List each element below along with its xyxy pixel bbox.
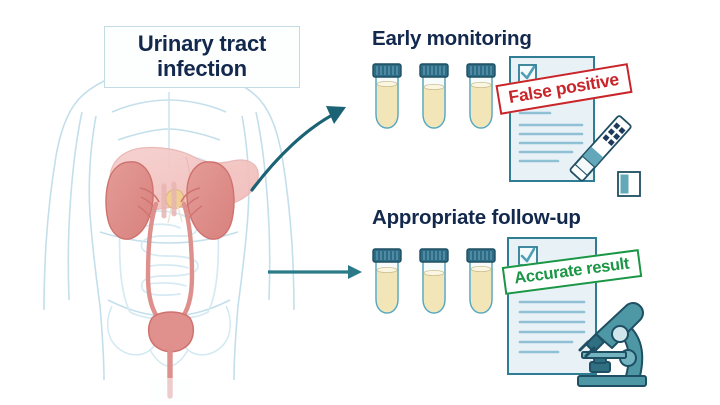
section-heading-appropriate-follow-up: Appropriate follow-up [372, 206, 581, 230]
page-title-line2: infection [157, 56, 247, 81]
urine-dipstick-icon [560, 112, 644, 198]
urinary-bladder [149, 312, 194, 352]
urine-sample-tube [370, 243, 404, 315]
fade-mask [150, 378, 190, 405]
right-ureter [148, 204, 160, 320]
urine-sample-tube [417, 58, 451, 130]
page-title: Urinary tract infection [104, 26, 300, 88]
urine-sample-tube [370, 58, 404, 130]
page-title-line1: Urinary tract [138, 31, 266, 56]
microscope-icon [566, 292, 658, 390]
urine-sample-tube [464, 243, 498, 315]
urine-sample-tube [417, 243, 451, 315]
page-title-text: Urinary tract infection [138, 32, 266, 81]
straight-arrow-right-icon [268, 262, 372, 282]
urine-sample-tube [464, 58, 498, 130]
curved-arrow-up-right-icon [250, 80, 360, 195]
infographic-canvas: Urinary tract infection Early monitoring [0, 0, 720, 405]
section-heading-early-monitoring: Early monitoring [372, 27, 532, 51]
